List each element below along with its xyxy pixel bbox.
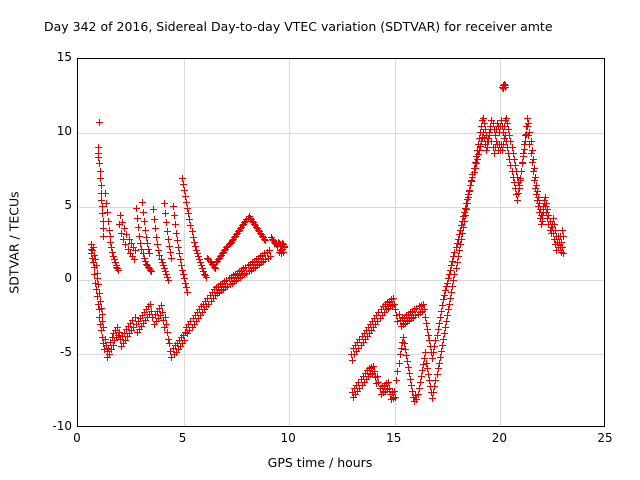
- x-tick-label: 20: [479, 431, 519, 445]
- data-point: [393, 377, 400, 384]
- data-point: [96, 160, 103, 167]
- data-point: [560, 233, 567, 240]
- data-point: [117, 212, 124, 219]
- data-point: [267, 253, 274, 260]
- data-point: [162, 314, 169, 321]
- data-point: [152, 225, 159, 232]
- data-point: [141, 218, 148, 225]
- data-point: [139, 199, 146, 206]
- data-point: [184, 289, 191, 296]
- data-point: [95, 281, 102, 288]
- data-point: [203, 274, 210, 281]
- data-point: [90, 244, 97, 251]
- data-point: [93, 262, 100, 269]
- data-point: [115, 267, 122, 274]
- data-point: [164, 228, 171, 235]
- data-point: [103, 200, 110, 207]
- x-tick-label: 10: [268, 431, 308, 445]
- data-point: [161, 200, 168, 207]
- data-point: [102, 190, 109, 197]
- data-point: [170, 203, 177, 210]
- data-point: [151, 216, 158, 223]
- data-point: [516, 182, 523, 189]
- chart-title: Day 342 of 2016, Sidereal Day-to-day VTE…: [44, 19, 640, 34]
- data-point: [96, 290, 103, 297]
- data-point: [519, 160, 526, 167]
- data-point: [158, 302, 165, 309]
- data-point: [172, 221, 179, 228]
- data-point: [165, 236, 172, 243]
- data-point: [514, 197, 521, 204]
- data-point: [97, 168, 104, 175]
- data-point: [396, 360, 403, 367]
- data-point: [168, 255, 175, 262]
- data-point: [150, 206, 157, 213]
- data-point: [394, 368, 401, 375]
- data-point: [131, 256, 138, 263]
- data-point: [153, 234, 160, 241]
- data-point: [529, 159, 536, 166]
- x-axis-title: GPS time / hours: [0, 455, 640, 470]
- data-point: [528, 150, 535, 157]
- data-point: [97, 175, 104, 182]
- data-point: [163, 321, 170, 328]
- chart-root: Day 342 of 2016, Sidereal Day-to-day VTE…: [0, 0, 640, 480]
- data-point: [162, 210, 169, 217]
- data-point: [164, 329, 171, 336]
- data-point: [174, 237, 181, 244]
- data-point: [181, 337, 188, 344]
- data-point: [146, 250, 153, 257]
- data-point: [165, 277, 172, 284]
- y-tick-label: 15: [6, 50, 72, 64]
- data-point: [525, 132, 532, 139]
- data-point: [518, 168, 525, 175]
- data-point: [530, 168, 537, 175]
- data-point: [104, 209, 111, 216]
- scatter-points: [78, 59, 604, 426]
- data-point: [502, 82, 509, 89]
- x-axis-tick-labels: 0510152025: [77, 431, 605, 451]
- data-point: [105, 218, 112, 225]
- data-point: [421, 306, 428, 313]
- data-point: [531, 177, 538, 184]
- data-point: [526, 141, 533, 148]
- data-point: [97, 298, 104, 305]
- data-point: [98, 182, 105, 189]
- x-tick-label: 25: [585, 431, 625, 445]
- data-point: [148, 268, 155, 275]
- data-point: [517, 175, 524, 182]
- data-point: [99, 311, 106, 318]
- data-point: [96, 119, 103, 126]
- data-point: [171, 212, 178, 219]
- data-point: [142, 227, 149, 234]
- x-tick-label: 15: [374, 431, 414, 445]
- data-point: [147, 301, 154, 308]
- data-point: [140, 209, 147, 216]
- data-point: [392, 394, 399, 401]
- data-point: [100, 324, 107, 331]
- y-tick-label: 10: [6, 124, 72, 138]
- data-point: [163, 219, 170, 226]
- y-axis-title: SDTVAR / TECUs: [7, 143, 22, 343]
- data-point: [558, 249, 565, 256]
- data-point: [173, 230, 180, 237]
- y-tick-label: -5: [6, 345, 72, 359]
- data-point: [281, 244, 288, 251]
- x-tick-label: 5: [163, 431, 203, 445]
- data-point: [515, 190, 522, 197]
- plot-area: [77, 58, 605, 427]
- data-point: [520, 153, 527, 160]
- x-tick-label: 0: [57, 431, 97, 445]
